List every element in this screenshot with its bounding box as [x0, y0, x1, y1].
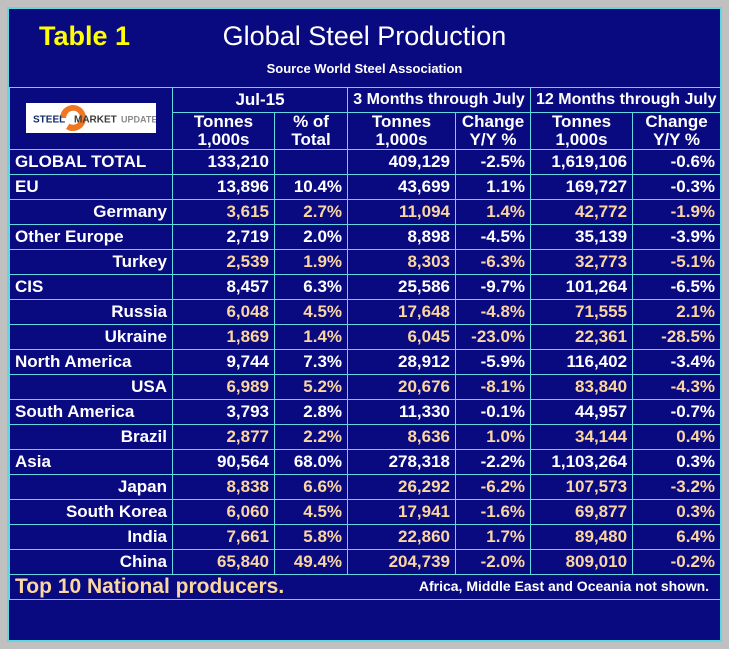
steel-market-update-logo: STEELMARKETUPDATE	[26, 103, 156, 133]
cell-y12_tonnes: 1,103,264	[531, 449, 633, 474]
source-attribution: Source World Steel Association	[9, 61, 720, 76]
logo-cell: STEELMARKETUPDATE	[10, 88, 173, 150]
table-row: Brazil2,8772.2%8,6361.0%34,1440.4%	[10, 424, 721, 449]
cell-y12_tonnes: 69,877	[531, 499, 633, 524]
row-label-india: India	[10, 524, 173, 549]
table-panel: Table 1 Global Steel Production Source W…	[7, 7, 722, 642]
column-group-header-2: 3 Months through July	[348, 88, 531, 113]
cell-jul_pct: 2.2%	[275, 424, 348, 449]
row-label-eu: EU	[10, 174, 173, 199]
cell-q3_change: 1.7%	[456, 524, 531, 549]
cell-q3_tonnes: 6,045	[348, 324, 456, 349]
table-row: South Korea6,0604.5%17,941-1.6%69,8770.3…	[10, 499, 721, 524]
svg-text:STEEL: STEEL	[33, 115, 65, 126]
cell-q3_change: -1.6%	[456, 499, 531, 524]
cell-jul_tonnes: 2,719	[173, 224, 275, 249]
cell-y12_change: 0.3%	[633, 449, 721, 474]
cell-q3_change: -4.5%	[456, 224, 531, 249]
title-block: Table 1 Global Steel Production Source W…	[9, 9, 720, 87]
cell-y12_change: -1.9%	[633, 199, 721, 224]
cell-jul_pct: 49.4%	[275, 549, 348, 574]
cell-y12_change: -0.6%	[633, 149, 721, 174]
cell-q3_tonnes: 43,699	[348, 174, 456, 199]
column-group-header-3: 12 Months through July	[531, 88, 721, 113]
cell-y12_tonnes: 34,144	[531, 424, 633, 449]
cell-y12_tonnes: 809,010	[531, 549, 633, 574]
column-header-5: Tonnes1,000s	[531, 113, 633, 150]
row-label-brazil: Brazil	[10, 424, 173, 449]
cell-y12_change: -5.1%	[633, 249, 721, 274]
column-header-4: ChangeY/Y %	[456, 113, 531, 150]
cell-q3_tonnes: 20,676	[348, 374, 456, 399]
table-row: Japan8,8386.6%26,292-6.2%107,573-3.2%	[10, 474, 721, 499]
cell-y12_tonnes: 101,264	[531, 274, 633, 299]
cell-y12_change: -28.5%	[633, 324, 721, 349]
table-row: Turkey2,5391.9%8,303-6.3%32,773-5.1%	[10, 249, 721, 274]
cell-q3_change: -8.1%	[456, 374, 531, 399]
cell-jul_pct: 5.8%	[275, 524, 348, 549]
column-header-2: % ofTotal	[275, 113, 348, 150]
footer-note-left: Top 10 National producers.	[15, 576, 284, 598]
cell-y12_tonnes: 169,727	[531, 174, 633, 199]
table-row: South America3,7932.8%11,330-0.1%44,957-…	[10, 399, 721, 424]
cell-q3_tonnes: 28,912	[348, 349, 456, 374]
cell-jul_pct: 68.0%	[275, 449, 348, 474]
cell-y12_tonnes: 1,619,106	[531, 149, 633, 174]
cell-y12_tonnes: 116,402	[531, 349, 633, 374]
cell-jul_tonnes: 13,896	[173, 174, 275, 199]
cell-y12_tonnes: 107,573	[531, 474, 633, 499]
cell-q3_change: -2.5%	[456, 149, 531, 174]
column-header-3: Tonnes1,000s	[348, 113, 456, 150]
cell-q3_change: -2.0%	[456, 549, 531, 574]
cell-y12_change: 2.1%	[633, 299, 721, 324]
page-title: Global Steel Production	[9, 21, 720, 52]
cell-q3_tonnes: 25,586	[348, 274, 456, 299]
footer-cell: Top 10 National producers.Africa, Middle…	[10, 574, 721, 599]
row-label-asia: Asia	[10, 449, 173, 474]
cell-q3_tonnes: 17,648	[348, 299, 456, 324]
table-row: CIS8,4576.3%25,586-9.7%101,264-6.5%	[10, 274, 721, 299]
cell-y12_change: 6.4%	[633, 524, 721, 549]
cell-y12_tonnes: 89,480	[531, 524, 633, 549]
row-label-cis: CIS	[10, 274, 173, 299]
cell-q3_tonnes: 11,094	[348, 199, 456, 224]
cell-q3_change: -0.1%	[456, 399, 531, 424]
cell-y12_change: -3.4%	[633, 349, 721, 374]
table-row: USA6,9895.2%20,676-8.1%83,840-4.3%	[10, 374, 721, 399]
cell-q3_tonnes: 22,860	[348, 524, 456, 549]
cell-q3_change: -9.7%	[456, 274, 531, 299]
cell-jul_tonnes: 6,048	[173, 299, 275, 324]
cell-jul_tonnes: 9,744	[173, 349, 275, 374]
cell-jul_tonnes: 3,615	[173, 199, 275, 224]
cell-y12_tonnes: 71,555	[531, 299, 633, 324]
table-row: Russia6,0484.5%17,648-4.8%71,5552.1%	[10, 299, 721, 324]
cell-jul_pct: 2.0%	[275, 224, 348, 249]
cell-jul_tonnes: 1,869	[173, 324, 275, 349]
table-row: Other Europe2,7192.0%8,898-4.5%35,139-3.…	[10, 224, 721, 249]
cell-jul_tonnes: 6,060	[173, 499, 275, 524]
cell-jul_pct: 6.3%	[275, 274, 348, 299]
cell-y12_change: -0.7%	[633, 399, 721, 424]
cell-y12_change: -3.2%	[633, 474, 721, 499]
svg-text:UPDATE: UPDATE	[121, 115, 156, 125]
cell-y12_change: 0.3%	[633, 499, 721, 524]
row-label-other-europe: Other Europe	[10, 224, 173, 249]
cell-q3_change: -23.0%	[456, 324, 531, 349]
cell-y12_change: -0.3%	[633, 174, 721, 199]
steel-production-table: STEELMARKETUPDATEJul-153 Months through …	[9, 87, 721, 600]
cell-jul_tonnes: 90,564	[173, 449, 275, 474]
cell-jul_pct	[275, 149, 348, 174]
table-row: North America9,7447.3%28,912-5.9%116,402…	[10, 349, 721, 374]
row-label-south-america: South America	[10, 399, 173, 424]
table-row: GLOBAL TOTAL133,210409,129-2.5%1,619,106…	[10, 149, 721, 174]
slide-canvas: Table 1 Global Steel Production Source W…	[0, 0, 729, 649]
cell-q3_tonnes: 8,898	[348, 224, 456, 249]
cell-y12_tonnes: 42,772	[531, 199, 633, 224]
cell-jul_tonnes: 3,793	[173, 399, 275, 424]
cell-q3_change: 1.0%	[456, 424, 531, 449]
table-row: EU13,89610.4%43,6991.1%169,727-0.3%	[10, 174, 721, 199]
table-footer-row: Top 10 National producers.Africa, Middle…	[10, 574, 721, 599]
row-label-usa: USA	[10, 374, 173, 399]
cell-jul_pct: 4.5%	[275, 499, 348, 524]
cell-y12_tonnes: 22,361	[531, 324, 633, 349]
cell-q3_tonnes: 409,129	[348, 149, 456, 174]
row-label-russia: Russia	[10, 299, 173, 324]
cell-jul_pct: 6.6%	[275, 474, 348, 499]
cell-y12_change: 0.4%	[633, 424, 721, 449]
cell-y12_tonnes: 83,840	[531, 374, 633, 399]
row-label-north-america: North America	[10, 349, 173, 374]
cell-jul_pct: 1.9%	[275, 249, 348, 274]
cell-y12_tonnes: 35,139	[531, 224, 633, 249]
row-label-china: China	[10, 549, 173, 574]
row-label-japan: Japan	[10, 474, 173, 499]
cell-jul_tonnes: 6,989	[173, 374, 275, 399]
table-row: Ukraine1,8691.4%6,045-23.0%22,361-28.5%	[10, 324, 721, 349]
cell-jul_tonnes: 7,661	[173, 524, 275, 549]
cell-jul_pct: 7.3%	[275, 349, 348, 374]
row-label-south-korea: South Korea	[10, 499, 173, 524]
cell-q3_tonnes: 278,318	[348, 449, 456, 474]
cell-q3_change: 1.4%	[456, 199, 531, 224]
cell-y12_change: -6.5%	[633, 274, 721, 299]
cell-jul_pct: 2.7%	[275, 199, 348, 224]
cell-q3_change: -6.3%	[456, 249, 531, 274]
row-label-germany: Germany	[10, 199, 173, 224]
table-row: China65,84049.4%204,739-2.0%809,010-0.2%	[10, 549, 721, 574]
cell-q3_tonnes: 11,330	[348, 399, 456, 424]
column-group-header-1: Jul-15	[173, 88, 348, 113]
cell-jul_pct: 2.8%	[275, 399, 348, 424]
cell-jul_pct: 4.5%	[275, 299, 348, 324]
cell-jul_pct: 1.4%	[275, 324, 348, 349]
column-header-6: ChangeY/Y %	[633, 113, 721, 150]
cell-jul_pct: 10.4%	[275, 174, 348, 199]
cell-q3_change: 1.1%	[456, 174, 531, 199]
cell-y12_tonnes: 44,957	[531, 399, 633, 424]
table-row: India7,6615.8%22,8601.7%89,4806.4%	[10, 524, 721, 549]
cell-y12_tonnes: 32,773	[531, 249, 633, 274]
cell-q3_tonnes: 17,941	[348, 499, 456, 524]
cell-q3_change: -2.2%	[456, 449, 531, 474]
cell-jul_tonnes: 65,840	[173, 549, 275, 574]
cell-q3_tonnes: 26,292	[348, 474, 456, 499]
cell-q3_change: -4.8%	[456, 299, 531, 324]
cell-q3_tonnes: 8,303	[348, 249, 456, 274]
cell-jul_tonnes: 8,838	[173, 474, 275, 499]
cell-y12_change: -4.3%	[633, 374, 721, 399]
cell-jul_tonnes: 2,539	[173, 249, 275, 274]
cell-q3_tonnes: 8,636	[348, 424, 456, 449]
cell-y12_change: -0.2%	[633, 549, 721, 574]
table-row: Germany3,6152.7%11,0941.4%42,772-1.9%	[10, 199, 721, 224]
cell-jul_pct: 5.2%	[275, 374, 348, 399]
table-header-group-row: STEELMARKETUPDATEJul-153 Months through …	[10, 88, 721, 113]
cell-q3_change: -6.2%	[456, 474, 531, 499]
cell-q3_change: -5.9%	[456, 349, 531, 374]
table-row: Asia90,56468.0%278,318-2.2%1,103,2640.3%	[10, 449, 721, 474]
footer-note-right: Africa, Middle East and Oceania not show…	[419, 579, 715, 594]
cell-jul_tonnes: 2,877	[173, 424, 275, 449]
row-label-ukraine: Ukraine	[10, 324, 173, 349]
cell-q3_tonnes: 204,739	[348, 549, 456, 574]
row-label-global-total: GLOBAL TOTAL	[10, 149, 173, 174]
cell-jul_tonnes: 133,210	[173, 149, 275, 174]
row-label-turkey: Turkey	[10, 249, 173, 274]
cell-y12_change: -3.9%	[633, 224, 721, 249]
svg-text:MARKET: MARKET	[74, 115, 117, 126]
column-header-1: Tonnes1,000s	[173, 113, 275, 150]
cell-jul_tonnes: 8,457	[173, 274, 275, 299]
